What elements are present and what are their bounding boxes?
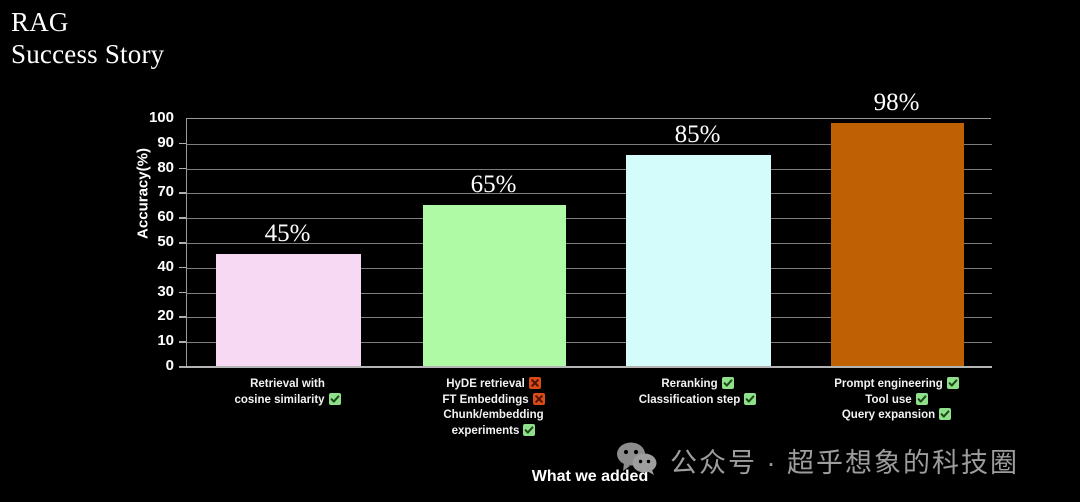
check-icon xyxy=(916,393,928,405)
category-label-text: Prompt engineering xyxy=(834,378,943,390)
watermark: 公众号 · 超乎想象的科技圈 xyxy=(614,441,1019,480)
y-axis-tick-mark xyxy=(179,341,186,343)
y-axis-tick-mark xyxy=(179,242,186,244)
page-title: RAG Success Story xyxy=(11,6,164,70)
y-axis-tick-mark xyxy=(179,168,186,170)
y-axis-tick-label: 0 xyxy=(134,357,174,374)
check-icon xyxy=(947,377,959,389)
category-label: Retrieval withcosine similarity xyxy=(185,377,390,408)
wechat-icon xyxy=(614,441,660,480)
category-label: HyDE retrievalFT EmbeddingsChunk/embeddi… xyxy=(392,377,595,439)
y-axis-tick-label: 30 xyxy=(134,283,174,300)
category-label-text: FT Embeddings xyxy=(442,394,528,406)
check-icon xyxy=(939,408,951,420)
category-label-text: cosine similarity xyxy=(234,394,324,406)
bar-value-label: 85% xyxy=(625,121,770,149)
category-label-line: FT Embeddings xyxy=(392,393,595,409)
check-icon xyxy=(329,393,341,405)
category-label-line: HyDE retrieval xyxy=(392,377,595,393)
category-label-text: experiments xyxy=(452,425,520,437)
title-line-2: Success Story xyxy=(11,38,164,70)
category-label-text: Query expansion xyxy=(842,409,935,421)
watermark-text: 公众号 · 超乎想象的科技圈 xyxy=(670,441,1019,480)
bar[interactable] xyxy=(626,155,771,366)
category-label-text: Reranking xyxy=(661,378,717,390)
y-axis-tick-label: 100 xyxy=(134,109,174,126)
y-axis-tick-label: 10 xyxy=(134,332,174,349)
y-axis-tick-label: 20 xyxy=(134,307,174,324)
bar[interactable] xyxy=(831,123,964,366)
cross-icon xyxy=(529,377,541,389)
category-label-line: Query expansion xyxy=(800,408,993,424)
category-label-text: Tool use xyxy=(865,394,911,406)
bar-value-label: 45% xyxy=(215,220,360,248)
check-icon xyxy=(523,424,535,436)
check-icon xyxy=(722,377,734,389)
category-label-text: Classification step xyxy=(639,394,741,406)
category-label-line: Retrieval with xyxy=(185,377,390,393)
category-label-line: Classification step xyxy=(595,393,800,409)
bar[interactable] xyxy=(423,205,566,366)
check-icon xyxy=(744,393,756,405)
category-label-line: Tool use xyxy=(800,393,993,409)
bar-value-label: 65% xyxy=(422,171,565,199)
bar[interactable] xyxy=(216,254,361,366)
bar-value-label: 98% xyxy=(830,89,963,117)
y-axis-tick-label: 40 xyxy=(134,258,174,275)
category-label: Prompt engineeringTool useQuery expansio… xyxy=(800,377,993,424)
y-axis-tick-mark xyxy=(179,192,186,194)
y-axis-title: Accuracy(%) xyxy=(135,129,152,259)
category-label-line: Reranking xyxy=(595,377,800,393)
category-label: RerankingClassification step xyxy=(595,377,800,408)
category-label-text: HyDE retrieval xyxy=(446,378,525,390)
category-label-text: Chunk/embedding xyxy=(443,409,543,421)
category-label-text: Retrieval with xyxy=(250,378,325,390)
category-label-line: Prompt engineering xyxy=(800,377,993,393)
y-axis-tick-mark xyxy=(179,267,186,269)
cross-icon xyxy=(533,393,545,405)
title-line-1: RAG xyxy=(11,6,164,38)
category-label-line: experiments xyxy=(392,424,595,440)
category-label-line: cosine similarity xyxy=(185,393,390,409)
y-axis-tick-mark xyxy=(179,143,186,145)
x-axis-line xyxy=(186,366,992,368)
y-axis-tick-mark xyxy=(179,316,186,318)
y-axis-tick-mark xyxy=(179,292,186,294)
y-axis-tick-mark xyxy=(179,217,186,219)
category-label-line: Chunk/embedding xyxy=(392,408,595,424)
y-axis-tick-mark xyxy=(179,366,186,368)
